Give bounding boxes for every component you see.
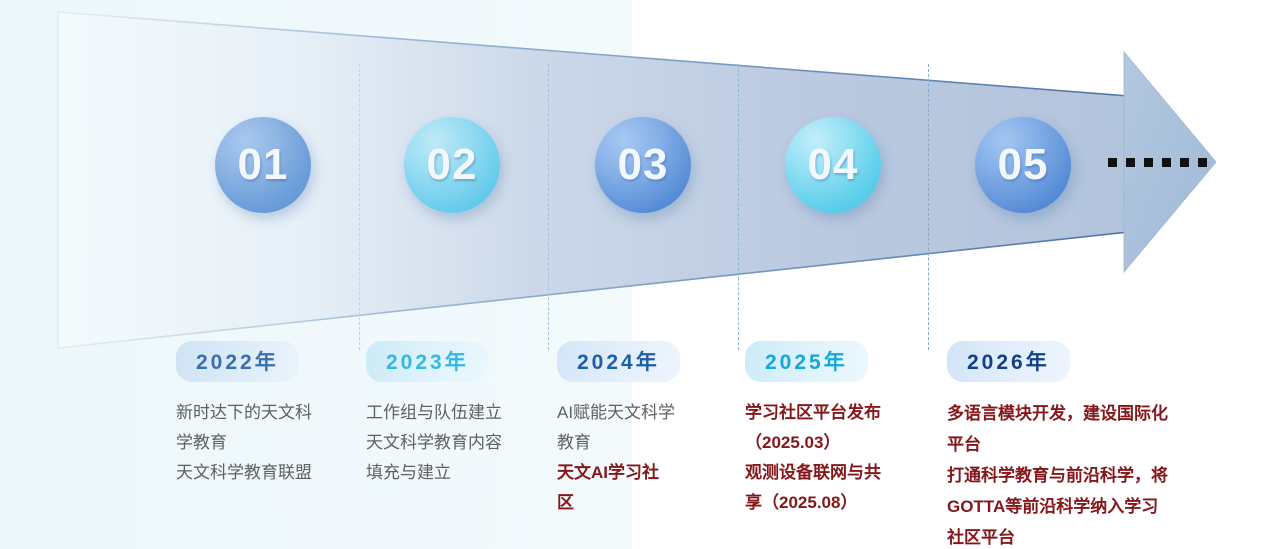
description-2022: 新时达下的天文科学教育天文科学教育联盟 bbox=[176, 398, 346, 488]
description-2026: 多语言模块开发，建设国际化平台打通科学教育与前沿科学，将GOTTA等前沿科学纳入… bbox=[947, 398, 1217, 549]
ellipsis-dots bbox=[1108, 158, 1207, 167]
divider-4 bbox=[928, 64, 929, 350]
step-circle-04[interactable]: 04 bbox=[785, 117, 881, 213]
description-line: 工作组与队伍建立 bbox=[366, 398, 536, 428]
description-line: 填充与建立 bbox=[366, 458, 536, 488]
step-circle-01[interactable]: 01 bbox=[215, 117, 311, 213]
divider-2 bbox=[548, 64, 549, 350]
description-line: 天文AI学习社 bbox=[557, 458, 707, 488]
year-pill-2024[interactable]: 2024年 bbox=[557, 341, 680, 382]
description-line: 打通科学教育与前沿科学，将 bbox=[947, 460, 1217, 491]
timeline-diagram: 01 02 03 04 05 2022年 新时达下的天文科学教育天文科学教育联盟… bbox=[0, 0, 1269, 549]
ellipsis-dot bbox=[1144, 158, 1153, 167]
ellipsis-dot bbox=[1126, 158, 1135, 167]
step-circle-05[interactable]: 05 bbox=[975, 117, 1071, 213]
divider-3 bbox=[738, 64, 739, 350]
timeline-column-2025: 2025年 学习社区平台发布（2025.03）观测设备联网与共享（2025.08… bbox=[745, 341, 925, 518]
description-2024: AI赋能天文科学教育天文AI学习社区 bbox=[557, 398, 707, 518]
description-line: 天文科学教育内容 bbox=[366, 428, 536, 458]
description-line: GOTTA等前沿科学纳入学习 bbox=[947, 491, 1217, 522]
ellipsis-dot bbox=[1198, 158, 1207, 167]
ellipsis-dot bbox=[1108, 158, 1117, 167]
divider-1 bbox=[359, 64, 360, 350]
year-pill-2023[interactable]: 2023年 bbox=[366, 341, 489, 382]
step-circle-03[interactable]: 03 bbox=[595, 117, 691, 213]
description-2025: 学习社区平台发布（2025.03）观测设备联网与共享（2025.08） bbox=[745, 398, 925, 518]
year-pill-2026[interactable]: 2026年 bbox=[947, 341, 1070, 382]
description-line: （2025.03） bbox=[745, 428, 925, 458]
description-line: 社区平台 bbox=[947, 522, 1217, 549]
ellipsis-dot bbox=[1162, 158, 1171, 167]
ellipsis-dot bbox=[1180, 158, 1189, 167]
description-line: 教育 bbox=[557, 428, 707, 458]
description-line: 新时达下的天文科 bbox=[176, 398, 346, 428]
step-circle-02[interactable]: 02 bbox=[404, 117, 500, 213]
description-line: 观测设备联网与共 bbox=[745, 458, 925, 488]
timeline-column-2026: 2026年 多语言模块开发，建设国际化平台打通科学教育与前沿科学，将GOTTA等… bbox=[947, 341, 1217, 549]
description-line: 享（2025.08） bbox=[745, 488, 925, 518]
year-pill-2022[interactable]: 2022年 bbox=[176, 341, 299, 382]
timeline-column-2023: 2023年 工作组与队伍建立天文科学教育内容填充与建立 bbox=[366, 341, 536, 488]
description-line: AI赋能天文科学 bbox=[557, 398, 707, 428]
description-line: 学教育 bbox=[176, 428, 346, 458]
timeline-column-2022: 2022年 新时达下的天文科学教育天文科学教育联盟 bbox=[176, 341, 346, 488]
description-line: 平台 bbox=[947, 429, 1217, 460]
description-line: 学习社区平台发布 bbox=[745, 398, 925, 428]
year-pill-2025[interactable]: 2025年 bbox=[745, 341, 868, 382]
timeline-column-2024: 2024年 AI赋能天文科学教育天文AI学习社区 bbox=[557, 341, 707, 518]
description-line: 多语言模块开发，建设国际化 bbox=[947, 398, 1217, 429]
description-2023: 工作组与队伍建立天文科学教育内容填充与建立 bbox=[366, 398, 536, 488]
description-line: 天文科学教育联盟 bbox=[176, 458, 346, 488]
description-line: 区 bbox=[557, 488, 707, 518]
